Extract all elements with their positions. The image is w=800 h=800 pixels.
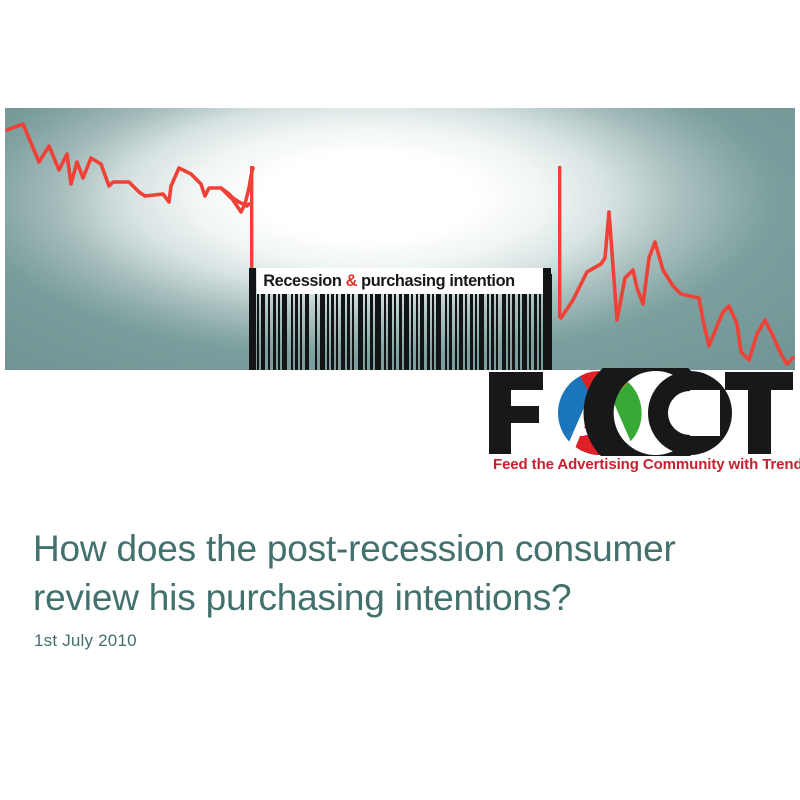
fact-logo: Feed the Advertising Community with Tren… [487,368,795,476]
logo-letter-c [583,368,732,456]
page-title-line-2: review his purchasing intentions? [33,573,763,622]
logo-tagline: Feed the Advertising Community with Tren… [493,456,795,473]
recession-banner-image: Recession & purchasing intention [5,108,795,370]
barcode-label-prefix: Recession [263,272,345,290]
barcode-label: Recession & purchasing intention [257,268,549,294]
barcode-label-ampersand: & [346,272,357,290]
page-title: How does the post-recession consumer rev… [33,524,763,622]
barcode-graphic: Recession & purchasing intention [243,268,560,370]
barcode-guard-bar-right [543,268,551,370]
page-title-line-1: How does the post-recession consumer [33,524,763,573]
logo-letter-t [725,372,793,454]
barcode-guard-bar-left [249,268,256,370]
fact-wordmark [487,368,795,456]
slide-canvas: Recession & purchasing intention [0,0,800,800]
logo-letter-f [489,372,543,454]
presentation-date: 1st July 2010 [34,631,137,651]
barcode-label-suffix: purchasing intention [357,272,515,290]
